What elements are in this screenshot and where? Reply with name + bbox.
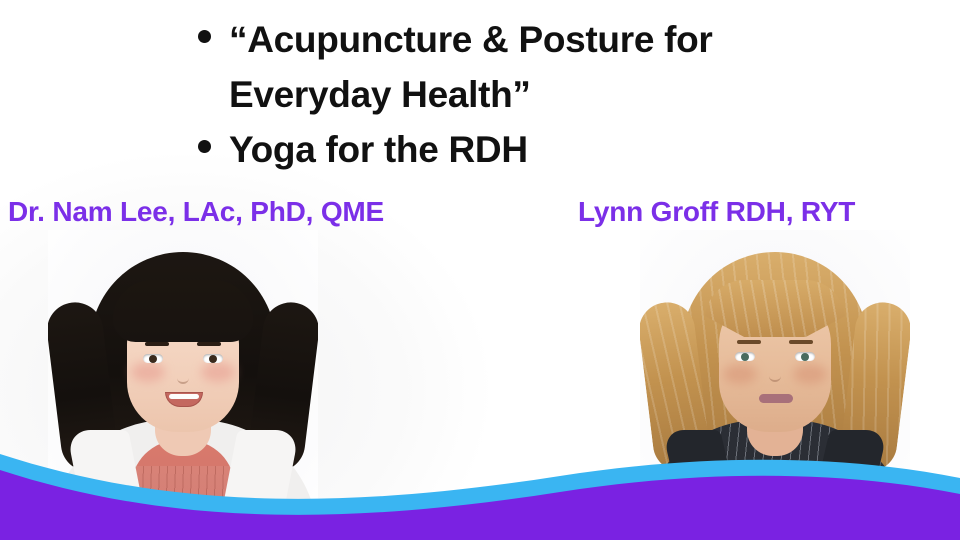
bullet-item-2: Yoga for the RDH [198,122,838,177]
hair-fringe [113,280,253,342]
cheek-right [201,362,235,382]
wave-purple-band [0,470,960,540]
bullet-dot-icon [198,30,211,43]
eye-right [795,352,815,361]
eyebrow-left [145,342,169,346]
pupil-left [741,353,749,361]
eyebrow-left [737,340,761,344]
cheek-left [723,364,757,384]
bullet-item-1-line-2: Everyday Health” [229,67,713,122]
bottom-wave-decoration [0,420,960,540]
bullet-item-1-text: “Acupuncture & Posture for Everyday Heal… [229,12,713,122]
bullet-list: “Acupuncture & Posture for Everyday Heal… [198,12,838,177]
pupil-left [149,355,157,363]
teeth [169,394,199,399]
presenter-name-right: Lynn Groff RDH, RYT [578,196,855,228]
bullet-item-2-line-1: Yoga for the RDH [229,122,528,177]
eye-left [143,354,163,363]
eyebrow-right [197,342,221,346]
bullet-dot-icon [198,140,211,153]
mouth [759,394,793,403]
pupil-right [801,353,809,361]
presenter-name-left: Dr. Nam Lee, LAc, PhD, QME [8,196,384,228]
bullet-item-1: “Acupuncture & Posture for Everyday Heal… [198,12,838,122]
cheek-right [793,364,827,384]
pupil-right [209,355,217,363]
eye-left [735,352,755,361]
bullet-item-1-line-1: “Acupuncture & Posture for [229,12,713,67]
bullet-item-2-text: Yoga for the RDH [229,122,528,177]
cheek-left [131,362,165,382]
eyebrow-right [789,340,813,344]
eye-right [203,354,223,363]
presentation-slide: “Acupuncture & Posture for Everyday Heal… [0,0,960,540]
mouth [165,392,203,407]
nose [177,368,189,384]
nose [769,366,781,382]
